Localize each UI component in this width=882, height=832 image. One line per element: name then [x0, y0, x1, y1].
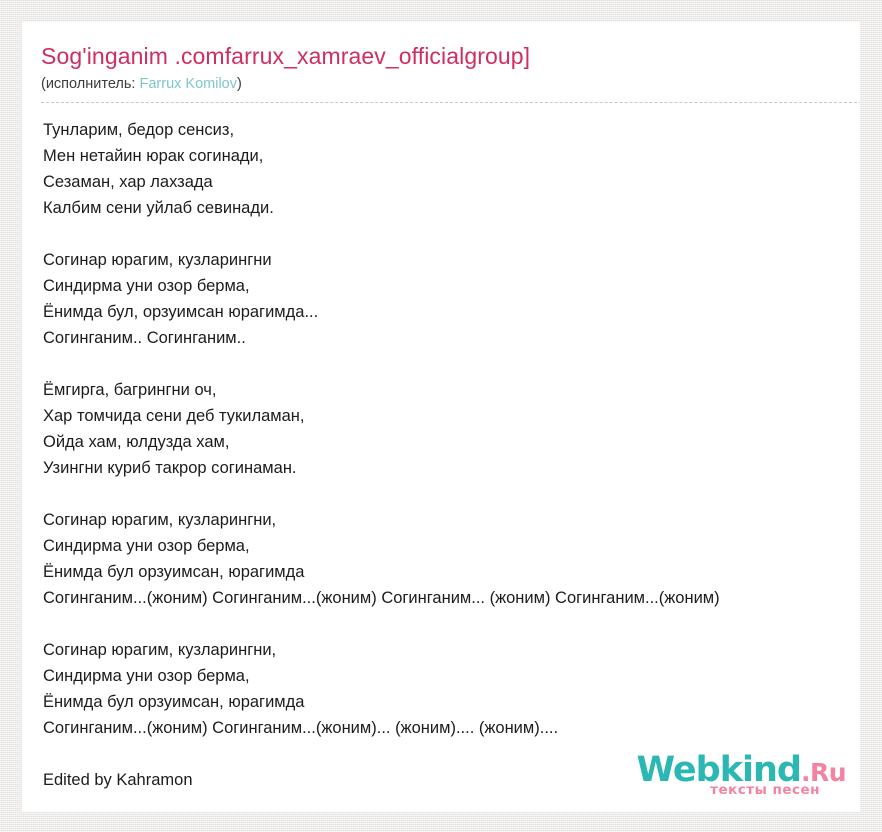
lyrics-line: Узингни куриб такрор согинаман. [43, 455, 860, 481]
lyrics-card: Sog'inganim .comfarrux_xamraev_officialg… [22, 22, 860, 812]
lyrics-line: Мен нетайин юрак согинади, [43, 143, 860, 169]
lyrics-blank-line [43, 481, 860, 507]
webkind-watermark: Webkind.Ru тексты песен [634, 752, 846, 804]
lyrics-line: Ёнимда бул, орзуимсан юрагимда... [43, 299, 860, 325]
artist-label: (исполнитель: [41, 76, 139, 92]
lyrics-line: Синдирма уни озор берма, [43, 663, 860, 689]
lyrics-line: Хар томчида сени деб тукиламан, [43, 403, 860, 429]
lyrics-blank-line [43, 351, 860, 377]
lyrics-line: Тунларим, бедор сенсиз, [43, 117, 860, 143]
lyrics-line: Ёмгирга, багрингни оч, [43, 377, 860, 403]
page-title: Sog'inganim .comfarrux_xamraev_officialg… [41, 42, 860, 70]
lyrics-line: Сезаман, хар лахзада [43, 169, 860, 195]
artist-link[interactable]: Farrux Komilov [139, 76, 237, 92]
card-inner: Sog'inganim .comfarrux_xamraev_officialg… [22, 22, 860, 812]
lyrics-line: Согинганим.. Согинганим.. [43, 325, 860, 351]
lyrics-line: Согинар юрагим, кузларингни, [43, 637, 860, 663]
lyrics-line: Синдирма уни озор берма, [43, 533, 860, 559]
lyrics-line: Ёнимда бул орзуимсан, юрагимда [43, 559, 860, 585]
artist-suffix: ) [237, 76, 242, 92]
artist-line: (исполнитель: Farrux Komilov) [41, 70, 860, 102]
lyrics-blank-line [43, 611, 860, 637]
lyrics-line: Калбим сени уйлаб севинади. [43, 195, 860, 221]
lyrics-line: Согинар юрагим, кузларингни, [43, 507, 860, 533]
lyrics-line: Синдирма уни озор берма, [43, 273, 860, 299]
lyrics-blank-line [43, 221, 860, 247]
lyrics-line: Согинганим...(жоним) Согинганим...(жоним… [43, 585, 860, 611]
lyrics-text: Тунларим, бедор сенсиз,Мен нетайин юрак … [41, 103, 860, 793]
lyrics-line: Ойда хам, юлдузда хам, [43, 429, 860, 455]
lyrics-line: Согинганим...(жоним) Согинганим...(жоним… [43, 715, 860, 741]
lyrics-line: Ёнимда бул орзуимсан, юрагимда [43, 689, 860, 715]
lyrics-line: Согинар юрагим, кузларингни [43, 247, 860, 273]
